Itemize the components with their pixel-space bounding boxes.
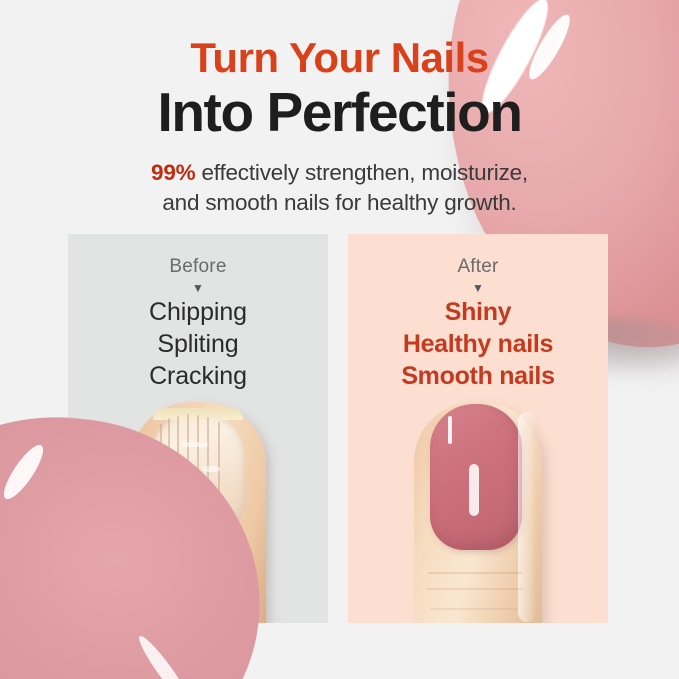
headline-line-2: Into Perfection xyxy=(0,83,679,141)
subheadline-line-2: and smooth nails for healthy growth. xyxy=(0,188,679,218)
after-nail-highlight-thin xyxy=(448,416,452,444)
panel-after-lines: Shiny Healthy nails Smooth nails xyxy=(348,296,608,392)
after-skin-crease xyxy=(426,588,522,590)
panel-before-lines: Chipping Spliting Cracking xyxy=(68,296,328,392)
panel-before-caret-icon: ▼ xyxy=(68,282,328,294)
after-nail-highlight-main xyxy=(469,464,479,516)
panel-after-line-1: Shiny xyxy=(348,296,608,328)
headline-block: Turn Your Nails Into Perfection xyxy=(0,36,679,141)
after-nail-photo xyxy=(414,402,542,623)
after-finger-gloss xyxy=(518,412,536,622)
after-skin-crease xyxy=(430,608,518,610)
panel-before-line-2: Spliting xyxy=(68,328,328,360)
subheadline-line-1-rest: effectively strengthen, moisturize, xyxy=(195,160,528,185)
panel-before-line-1: Chipping xyxy=(68,296,328,328)
panel-before-tag: Before xyxy=(68,256,328,278)
after-skin-crease xyxy=(428,572,522,574)
panel-after-tag: After xyxy=(348,256,608,278)
headline-line-1: Turn Your Nails xyxy=(0,36,679,81)
subheadline-block: 99% effectively strengthen, moisturize, … xyxy=(0,158,679,217)
panel-before-line-3: Cracking xyxy=(68,360,328,392)
panel-after: After ▼ Shiny Healthy nails Smooth nails xyxy=(348,234,608,623)
panel-after-caret-icon: ▼ xyxy=(348,282,608,294)
panel-after-line-3: Smooth nails xyxy=(348,360,608,392)
subheadline-line-1: 99% effectively strengthen, moisturize, xyxy=(0,158,679,188)
promo-image-canvas: Turn Your Nails Into Perfection 99% effe… xyxy=(0,0,679,679)
percent-badge: 99% xyxy=(151,160,195,185)
panel-after-line-2: Healthy nails xyxy=(348,328,608,360)
before-nail-flake xyxy=(202,466,220,472)
before-nail-flake xyxy=(182,442,208,447)
